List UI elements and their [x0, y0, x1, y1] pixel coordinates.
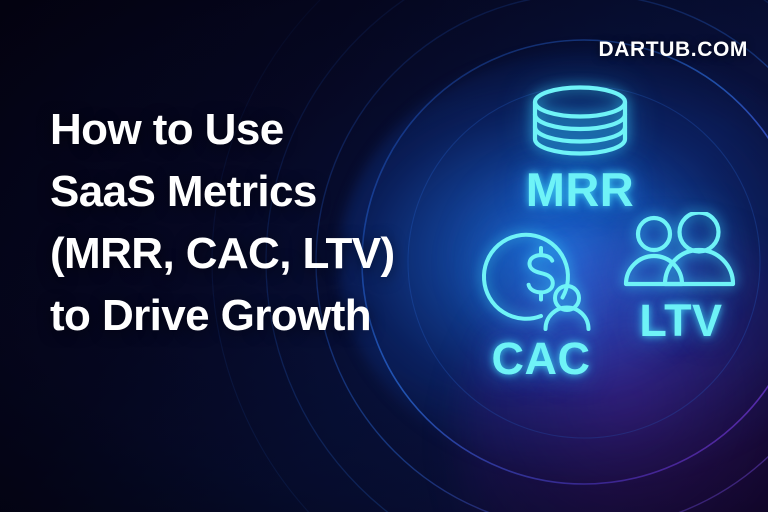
metric-ltv: LTV — [616, 212, 746, 343]
metric-cac-label: CAC — [466, 336, 616, 381]
database-stack-icon — [500, 84, 660, 160]
title-line-1: How to Use — [50, 99, 430, 161]
title-line-4: to Drive Growth — [50, 285, 430, 347]
metric-ltv-label: LTV — [616, 298, 746, 343]
metric-mrr-label: MRR — [500, 166, 660, 213]
dollar-circle-person-icon — [466, 228, 616, 332]
metric-cac: CAC — [466, 228, 616, 381]
two-people-icon — [616, 212, 746, 294]
thumbnail-canvas: DARTUB.COM How to Use SaaS Metrics (MRR,… — [0, 0, 768, 512]
title-line-2: SaaS Metrics — [50, 161, 430, 223]
title-line-3: (MRR, CAC, LTV) — [50, 223, 430, 285]
metric-mrr: MRR — [500, 84, 660, 213]
site-logo: DARTUB.COM — [599, 38, 748, 62]
page-title: How to Use SaaS Metrics (MRR, CAC, LTV) … — [50, 99, 430, 347]
